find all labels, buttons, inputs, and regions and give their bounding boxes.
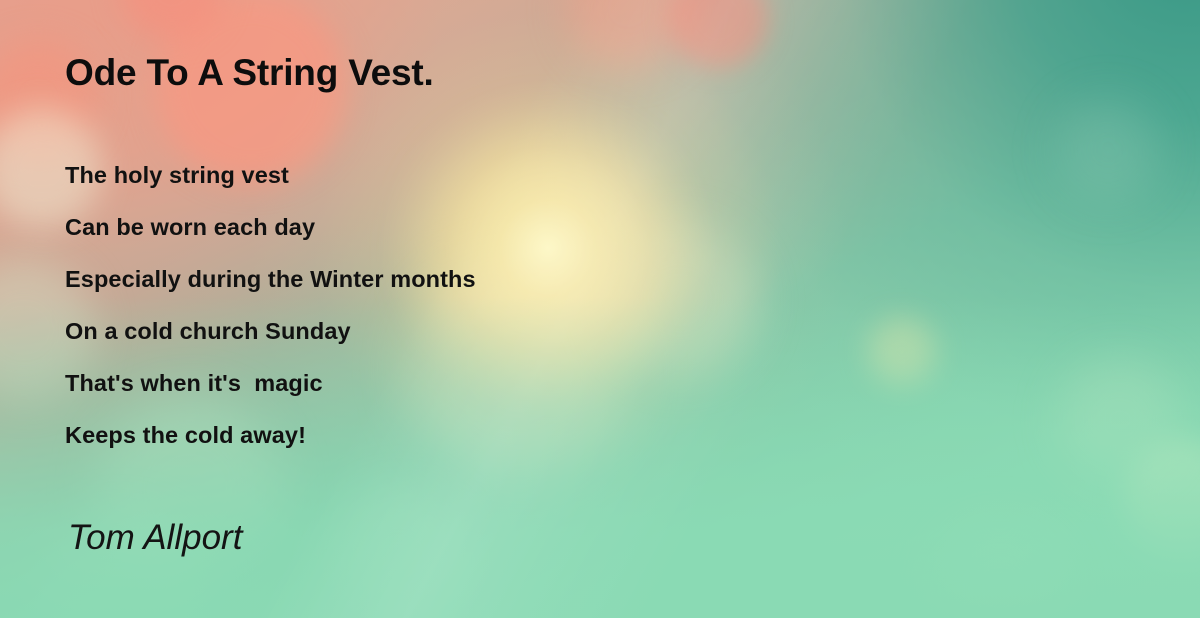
poem-line: Especially during the Winter months bbox=[65, 264, 476, 316]
poem-line: The holy string vest bbox=[65, 160, 476, 212]
poem-line: Can be worn each day bbox=[65, 212, 476, 264]
poem-line: On a cold church Sunday bbox=[65, 316, 476, 368]
poem-line: That's when it's magic bbox=[65, 368, 476, 420]
poem-body: The holy string vest Can be worn each da… bbox=[65, 160, 476, 472]
page-title: Ode To A String Vest. bbox=[65, 52, 434, 94]
poem-author: Tom Allport bbox=[68, 518, 242, 558]
poem-image-card: Ode To A String Vest. The holy string ve… bbox=[0, 0, 1200, 618]
poem-line: Keeps the cold away! bbox=[65, 420, 476, 472]
poem-text-layer: Ode To A String Vest. The holy string ve… bbox=[0, 0, 1200, 618]
